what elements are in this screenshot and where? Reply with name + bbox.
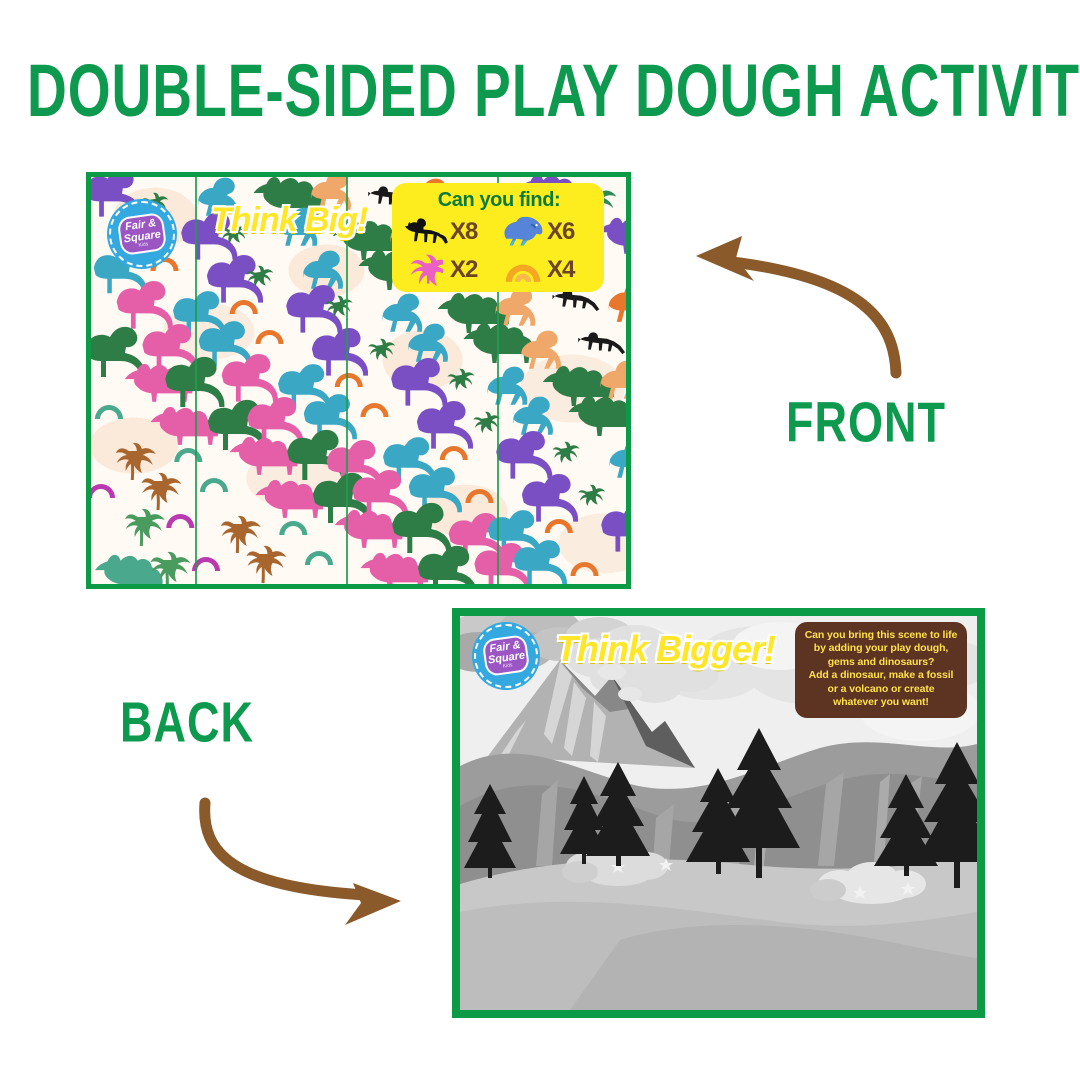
find-item-fossil: X8 (404, 214, 497, 250)
instruction-line-4: Add a dinosaur, make a fossil (801, 669, 961, 682)
instruction-line-6: whatever you want! (801, 696, 961, 709)
front-arrow-icon (680, 215, 930, 385)
can-you-find-title: Can you find: (404, 189, 594, 212)
fold-line-1 (195, 177, 197, 584)
find-count-dinosaur: X6 (547, 218, 574, 246)
find-item-rainbow: X4 (501, 252, 594, 288)
back-mat-headline: Think Bigger! (556, 628, 775, 670)
blue-dinosaur-icon (501, 216, 545, 248)
instruction-line-2: by adding your play dough, (801, 642, 961, 655)
find-item-palm: X2 (404, 252, 497, 288)
infographic-canvas: DOUBLE-SIDED PLAY DOUGH ACTIVITY MAT (0, 0, 1080, 1080)
back-label: BACK (120, 690, 254, 755)
find-count-palm: X2 (450, 256, 477, 284)
can-you-find-box: Can you find: X8 (392, 183, 604, 292)
page-title: DOUBLE-SIDED PLAY DOUGH ACTIVITY MAT (27, 48, 1053, 134)
orange-rainbow-icon (501, 254, 545, 286)
fair-and-square-logo-back: Fair & Square Kids (474, 624, 538, 688)
find-count-fossil: X8 (450, 218, 477, 246)
instruction-line-1: Can you bring this scene to life (801, 629, 961, 642)
pink-palm-tree-icon (404, 254, 448, 286)
scene-instruction-box: Can you bring this scene to life by addi… (795, 622, 967, 718)
find-item-dinosaur: X6 (501, 214, 594, 250)
front-mat-headline: Think Big! (211, 201, 367, 240)
fair-and-square-logo: Fair & Square Kids (109, 201, 175, 267)
instruction-line-3: gems and dinosaurs? (801, 656, 961, 669)
dinosaur-fossil-icon (404, 216, 448, 248)
back-mat-image: Fair & Square Kids Think Bigger! Can you… (452, 608, 985, 1018)
find-count-rainbow: X4 (547, 256, 574, 284)
can-you-find-grid: X8 X6 (404, 214, 594, 288)
back-mat-surface: Fair & Square Kids Think Bigger! Can you… (460, 616, 977, 1010)
logo-line-3: Kids (138, 242, 148, 248)
instruction-line-5: or a volcano or create (801, 683, 961, 696)
back-arrow-icon (175, 775, 425, 925)
logo-line-3-back: Kids (502, 664, 512, 670)
front-label: FRONT (786, 390, 946, 455)
